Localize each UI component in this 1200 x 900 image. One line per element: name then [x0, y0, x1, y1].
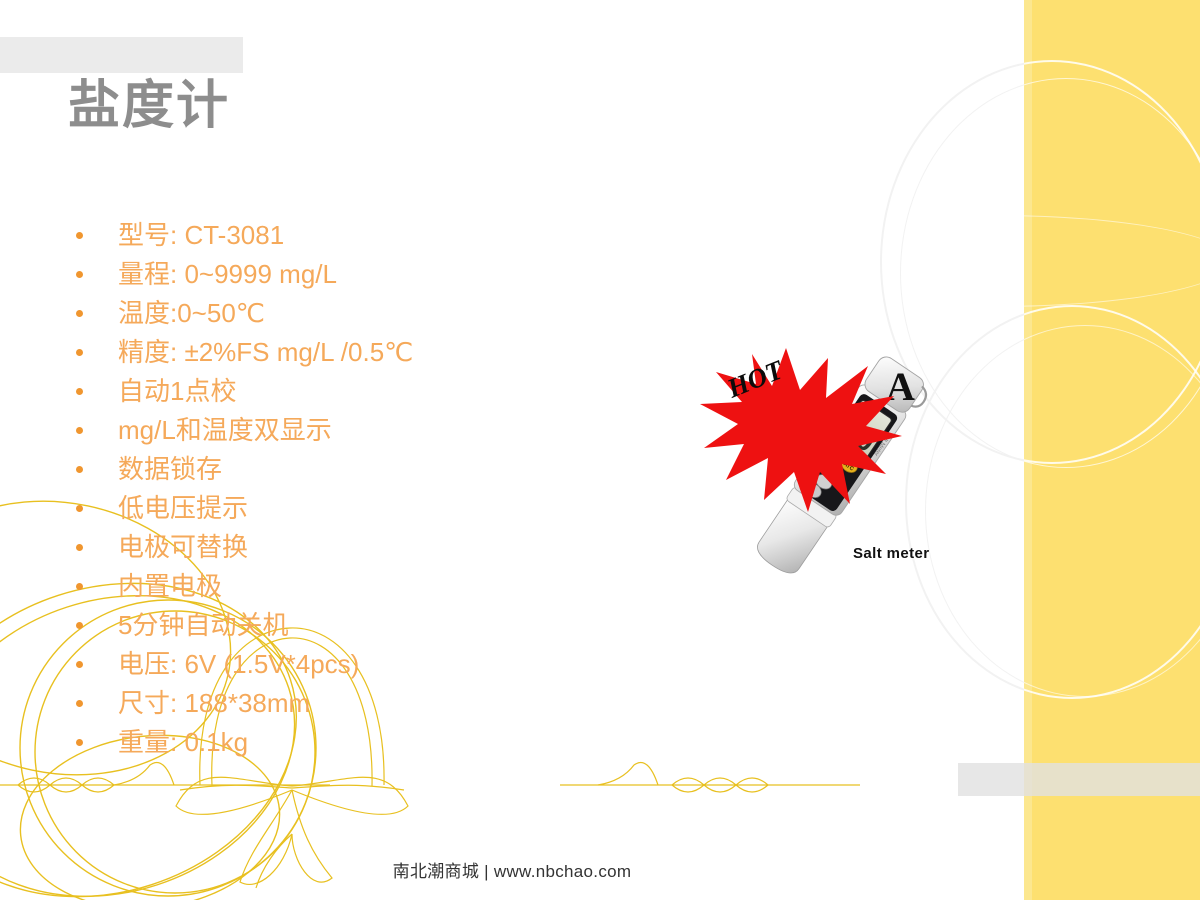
product-caption: Salt meter: [853, 545, 930, 562]
bullet-label: 电极可替换: [118, 532, 248, 562]
bullet-dot-icon: [76, 505, 83, 512]
list-item: 量程: 0~9999 mg/L: [66, 255, 626, 294]
decor-circle-7: [1024, 305, 1200, 699]
bullet-label: 尺寸: 188*38mm: [118, 688, 310, 718]
bullet-dot-icon: [76, 349, 83, 356]
list-item: 电压: 6V (1.5V*4pcs): [66, 645, 626, 684]
list-item: 电极可替换: [66, 528, 626, 567]
decor-circle-6: [1024, 78, 1200, 468]
bullet-dot-icon: [76, 388, 83, 395]
list-item: 精度: ±2%FS mg/L /0.5℃: [66, 333, 626, 372]
bullet-label: 低电压提示: [118, 493, 248, 523]
bullet-dot-icon: [76, 622, 83, 629]
list-item: 重量: 0.1kg: [66, 723, 626, 762]
list-item: 尺寸: 188*38mm: [66, 684, 626, 723]
bullet-dot-icon: [76, 700, 83, 707]
title-background-bar: [0, 37, 243, 73]
bullet-dot-icon: [76, 661, 83, 668]
decor-ellipse-1: [1024, 215, 1200, 307]
page-title: 盐度计: [68, 78, 230, 135]
list-item: 内置电极: [66, 567, 626, 606]
bullet-label: mg/L和温度双显示: [118, 415, 332, 445]
bullet-dot-icon: [76, 544, 83, 551]
list-item: 温度:0~50℃: [66, 294, 626, 333]
behind-text-a: A: [886, 364, 915, 409]
list-item: 型号: CT-3081: [66, 216, 626, 255]
list-item: 自动1点校: [66, 372, 626, 411]
bullet-label: 自动1点校: [118, 376, 236, 406]
bullet-dot-icon: [76, 427, 83, 434]
bullet-dot-icon: [76, 310, 83, 317]
bullet-dot-icon: [76, 271, 83, 278]
product-illustration: 0 22 ATC Salt Meter A 0 HOT: [690, 340, 990, 590]
bullet-dot-icon: [76, 583, 83, 590]
list-item: mg/L和温度双显示: [66, 411, 626, 450]
list-item: 低电压提示: [66, 489, 626, 528]
bullet-label: 重量: 0.1kg: [118, 727, 248, 757]
decor-circle-5: [1024, 60, 1200, 464]
bullet-label: 精度: ±2%FS mg/L /0.5℃: [118, 337, 413, 367]
spec-bullet-list: 型号: CT-3081 量程: 0~9999 mg/L 温度:0~50℃ 精度:…: [66, 216, 626, 762]
slide-canvas: 盐度计: [0, 0, 1200, 900]
bullet-label: 电压: 6V (1.5V*4pcs): [118, 649, 359, 679]
bullet-label: 内置电极: [118, 571, 222, 601]
accent-bar: [958, 763, 1200, 796]
bullet-dot-icon: [76, 466, 83, 473]
footer-text: 南北潮商城 | www.nbchao.com: [0, 857, 1024, 882]
list-item: 5分钟自动关机: [66, 606, 626, 645]
list-item: 数据锁存: [66, 450, 626, 489]
bullet-dot-icon: [76, 232, 83, 239]
bullet-dot-icon: [76, 739, 83, 746]
bullet-label: 数据锁存: [118, 454, 222, 484]
bullet-label: 型号: CT-3081: [118, 220, 284, 250]
decor-circle-8: [1024, 325, 1200, 697]
bullet-label: 5分钟自动关机: [118, 610, 288, 640]
product-image: 0 22 ATC Salt Meter A 0 HOT Salt meter: [690, 340, 990, 590]
bullet-label: 温度:0~50℃: [118, 298, 265, 328]
bullet-label: 量程: 0~9999 mg/L: [118, 259, 337, 289]
